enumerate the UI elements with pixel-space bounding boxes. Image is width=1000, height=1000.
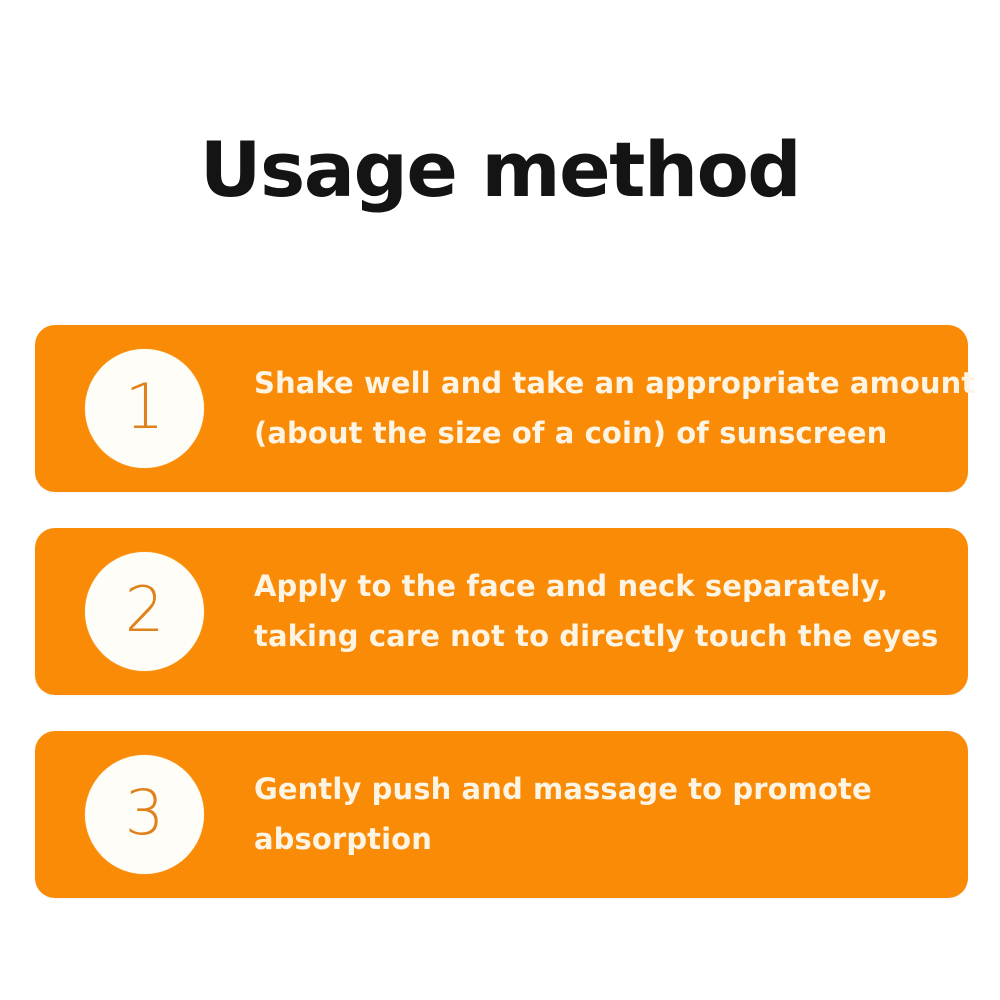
step-number-badge-2: 2 bbox=[85, 552, 204, 671]
step-text-line: taking care not to directly touch the ey… bbox=[254, 612, 944, 662]
step-text-line: (about the size of a coin) of sunscreen bbox=[254, 409, 975, 459]
step-text-line: Apply to the face and neck separately, bbox=[254, 562, 944, 612]
page-title: Usage method bbox=[0, 132, 1000, 208]
usage-method-infographic: Usage method 1 Shake well and take an ap… bbox=[0, 0, 1000, 1000]
step-text-3: Gently push and massage to promote absor… bbox=[254, 765, 968, 865]
step-number-badge-3: 3 bbox=[85, 755, 204, 874]
steps-list: 1 Shake well and take an appropriate amo… bbox=[35, 325, 968, 898]
step-text-line: absorption bbox=[254, 815, 944, 865]
step-card-1: 1 Shake well and take an appropriate amo… bbox=[35, 325, 968, 492]
step-number-label-1: 1 bbox=[125, 376, 164, 438]
step-text-1: Shake well and take an appropriate amoun… bbox=[254, 359, 999, 459]
step-text-line: Shake well and take an appropriate amoun… bbox=[254, 359, 975, 409]
step-text-2: Apply to the face and neck separately, t… bbox=[254, 562, 968, 662]
step-number-label-3: 3 bbox=[125, 782, 164, 844]
step-number-label-2: 2 bbox=[125, 579, 164, 641]
step-card-3: 3 Gently push and massage to promote abs… bbox=[35, 731, 968, 898]
step-text-line: Gently push and massage to promote bbox=[254, 765, 944, 815]
step-card-2: 2 Apply to the face and neck separately,… bbox=[35, 528, 968, 695]
step-number-badge-1: 1 bbox=[85, 349, 204, 468]
